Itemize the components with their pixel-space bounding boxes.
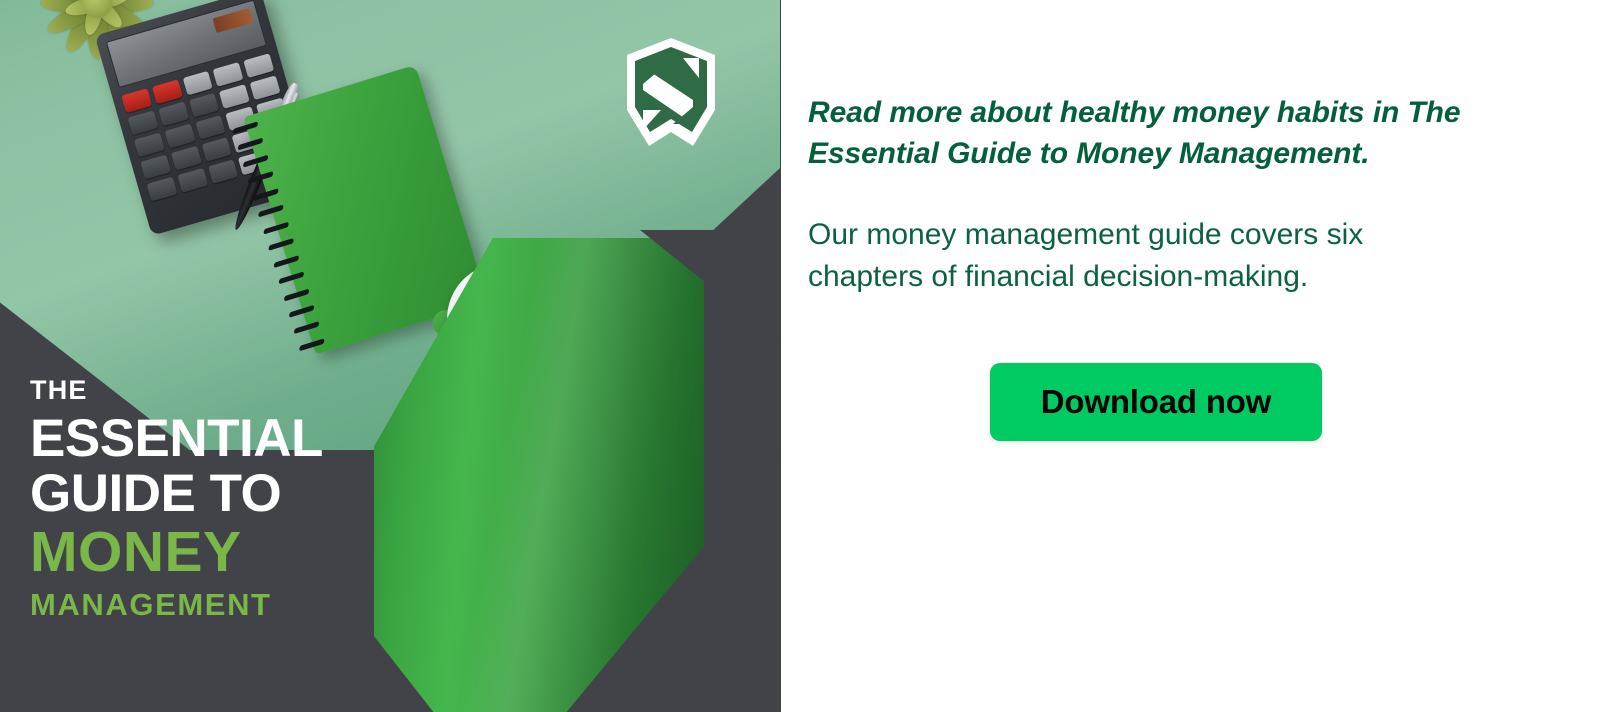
cover-title-line-2: ESSENTIAL: [30, 412, 323, 467]
cover-title-line-1: THE: [30, 377, 323, 404]
cover-title-line-3: GUIDE TO: [30, 467, 323, 522]
promo-artwork-panel: THE ESSENTIAL GUIDE TO MONEY MANAGEMENT: [0, 0, 781, 712]
promo-headline: Read more about healthy money habits in …: [808, 92, 1508, 174]
download-now-button[interactable]: Download now: [990, 363, 1322, 441]
cover-title-line-5: MANAGEMENT: [30, 589, 323, 620]
promo-content-panel: Read more about healthy money habits in …: [781, 0, 1622, 712]
guide-cover-title: THE ESSENTIAL GUIDE TO MONEY MANAGEMENT: [30, 377, 323, 620]
promo-banner: THE ESSENTIAL GUIDE TO MONEY MANAGEMENT …: [0, 0, 1622, 712]
calculator-solar-panel: [213, 8, 254, 33]
promo-subcopy: Our money management guide covers six ch…: [808, 214, 1468, 298]
cta-row: Download now: [808, 363, 1622, 441]
nedbank-n-logo-icon: [619, 36, 723, 148]
cover-title-line-4: MONEY: [30, 523, 323, 583]
